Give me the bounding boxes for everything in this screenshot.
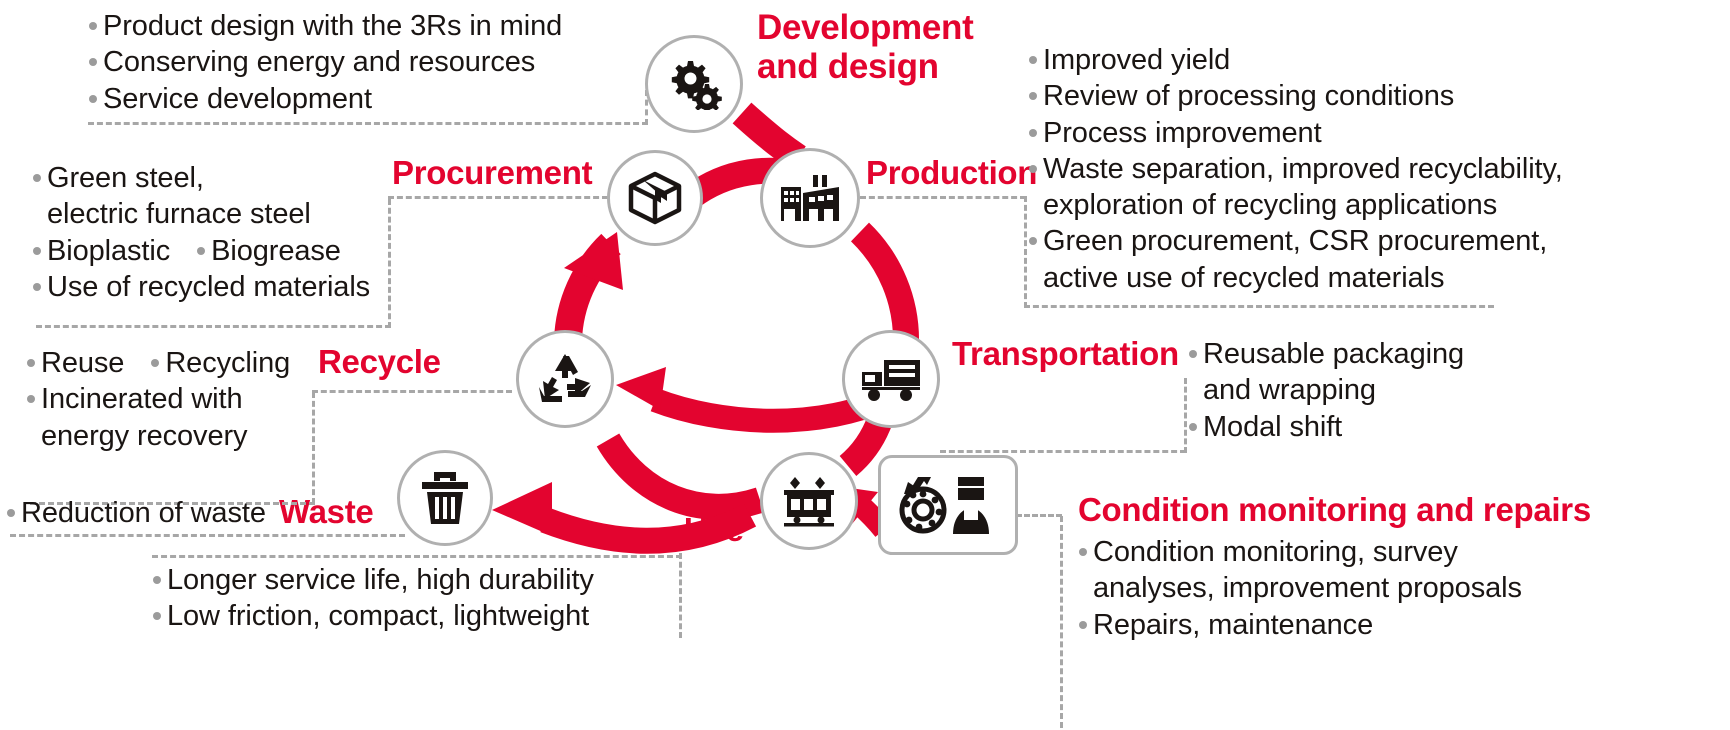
node-recycle[interactable] bbox=[516, 330, 614, 428]
tram-icon bbox=[778, 475, 840, 527]
gears-icon bbox=[665, 58, 723, 110]
maintenance-worker-bearing-icon bbox=[896, 472, 1000, 538]
package-box-icon bbox=[627, 170, 683, 226]
node-production[interactable] bbox=[760, 148, 860, 248]
arrowhead-to-recycle bbox=[616, 367, 666, 410]
arrow-production-to-transportation bbox=[860, 232, 906, 343]
node-procurement[interactable] bbox=[607, 150, 703, 246]
arrow-transportation-to-use bbox=[848, 420, 880, 466]
arrowhead-use-to-waste bbox=[492, 482, 552, 536]
node-condition-monitoring-and-repairs[interactable] bbox=[878, 455, 1018, 555]
truck-icon bbox=[860, 356, 922, 402]
recycle-symbol-icon bbox=[535, 351, 595, 407]
arrow-use-to-recycle bbox=[608, 440, 760, 507]
node-waste[interactable] bbox=[397, 450, 493, 546]
arrow-use-to-waste bbox=[545, 515, 750, 541]
node-use[interactable] bbox=[760, 452, 858, 550]
node-transportation[interactable] bbox=[842, 330, 940, 428]
factory-icon bbox=[779, 173, 841, 223]
circular-economy-diagram: Development and design Procurement Produ… bbox=[0, 0, 1730, 730]
trash-bin-icon bbox=[420, 470, 470, 526]
node-development-and-design[interactable] bbox=[645, 35, 743, 133]
